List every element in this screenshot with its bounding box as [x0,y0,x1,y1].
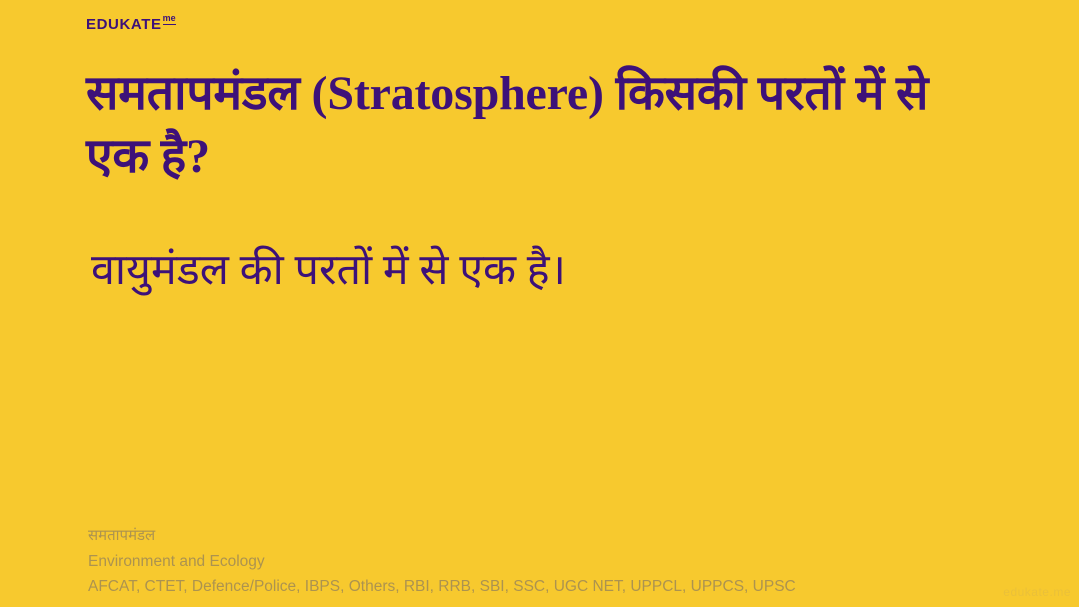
slide-footer: समतापमंडल Environment and Ecology AFCAT,… [88,524,988,599]
question-text: समतापमंडल (Stratosphere) किसकी परतों में… [86,62,996,189]
footer-subject: Environment and Ecology [88,549,988,574]
footer-exam-list: AFCAT, CTET, Defence/Police, IBPS, Other… [88,574,988,599]
brand-logo[interactable]: EDUKATEme [86,16,176,32]
brand-logo-superscript: me [163,14,176,25]
corner-watermark: edukate.me [1003,585,1071,599]
answer-text: वायुमंडल की परतों में से एक है। [86,189,1001,299]
footer-topic: समतापमंडल [88,524,988,548]
brand-logo-name: EDUKATE [86,17,162,32]
slide-content: समतापमंडल (Stratosphere) किसकी परतों में… [86,62,1016,299]
slide: EDUKATEme समतापमंडल (Stratosphere) किसकी… [0,0,1079,607]
